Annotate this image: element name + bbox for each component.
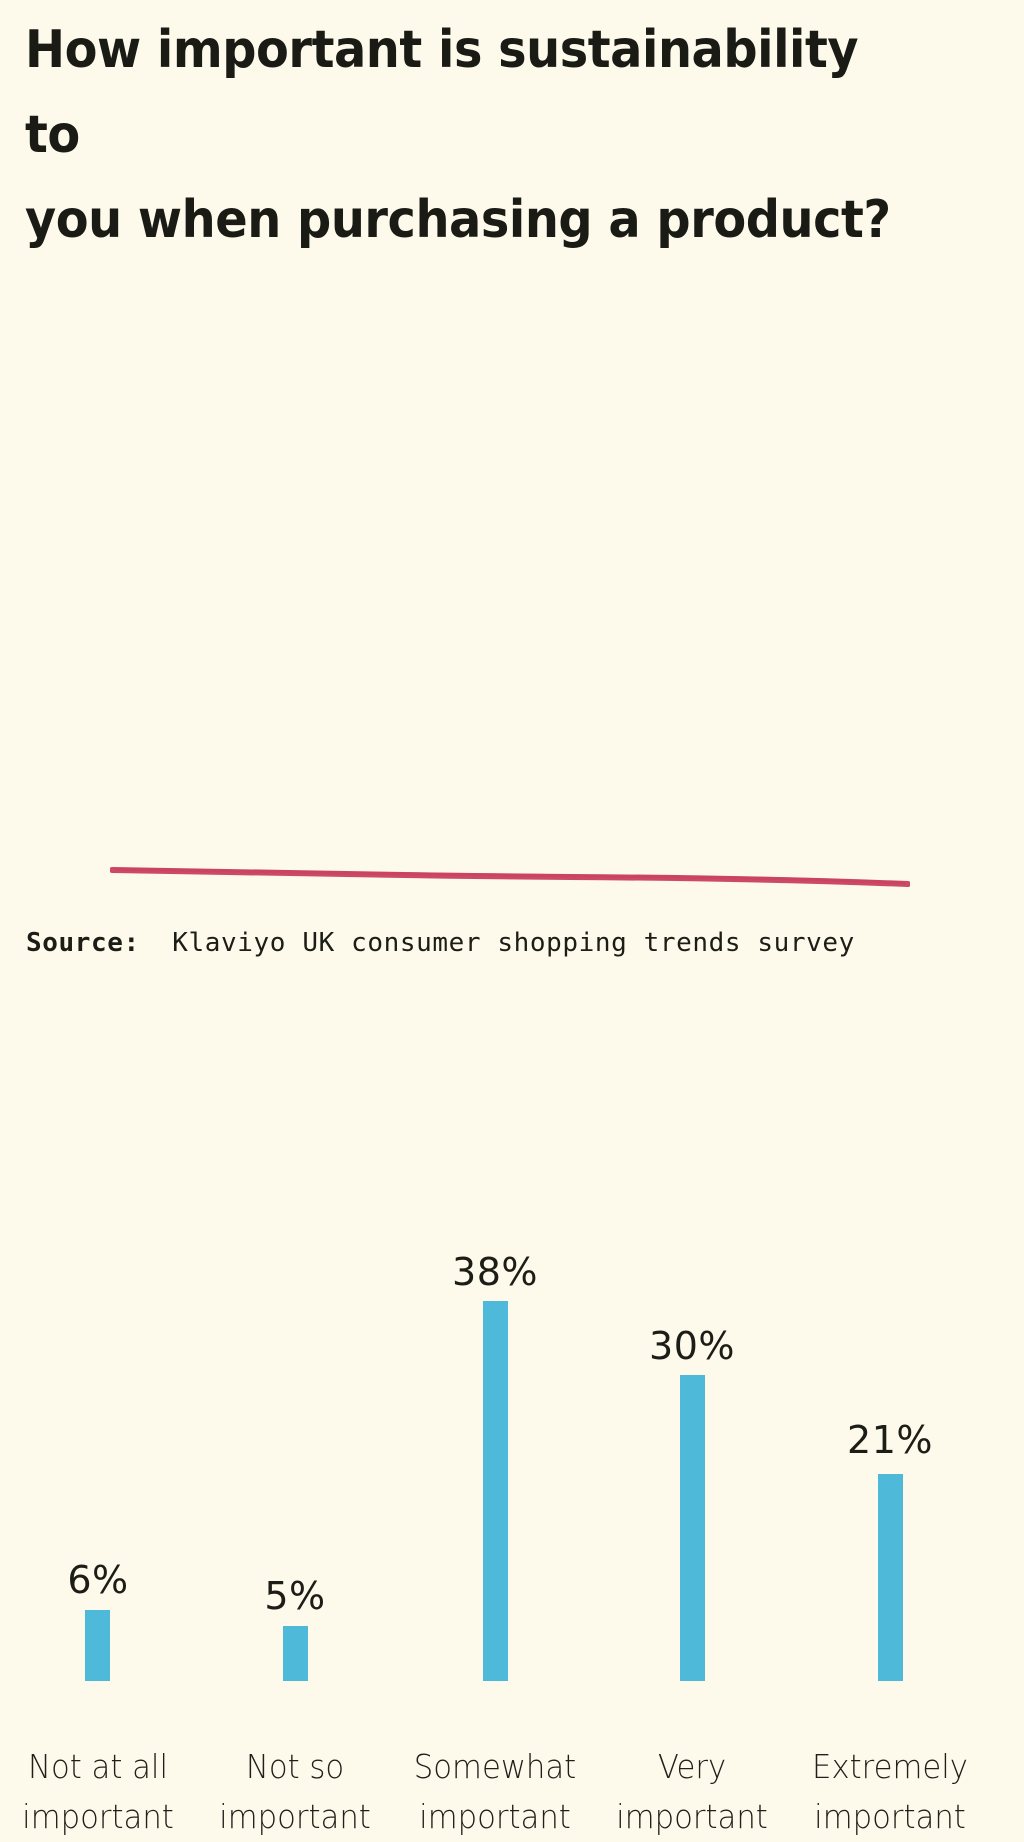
bar-rect[interactable] (483, 1301, 508, 1681)
bar-rect[interactable] (680, 1375, 705, 1681)
bar-rect[interactable] (283, 1626, 308, 1681)
bar-rect[interactable] (85, 1610, 110, 1681)
divider-underline-icon (110, 862, 910, 888)
bar-rect[interactable] (878, 1474, 903, 1681)
bar-value-label: 30% (594, 1324, 790, 1368)
source-note: Source: Klaviyo UK consumer shopping tre… (26, 928, 855, 958)
chart-canvas: How important is sustainability to you w… (0, 0, 1024, 1024)
bar-category-label: Not so important (204, 1742, 386, 1842)
bar-category-label: Very important (601, 1742, 783, 1842)
bar-value-label: 5% (197, 1574, 393, 1618)
bar-value-label: 6% (0, 1558, 196, 1602)
bar-value-label: 21% (792, 1418, 988, 1462)
source-text: Klaviyo UK consumer shopping trends surv… (140, 928, 855, 958)
bar-category-label: Extremely important (799, 1742, 981, 1842)
bar-category-label: Not at all important (7, 1742, 189, 1842)
bar-category-label: Somewhat important (404, 1742, 586, 1842)
source-label: Source: (26, 928, 140, 958)
bar-value-label: 38% (397, 1250, 593, 1294)
